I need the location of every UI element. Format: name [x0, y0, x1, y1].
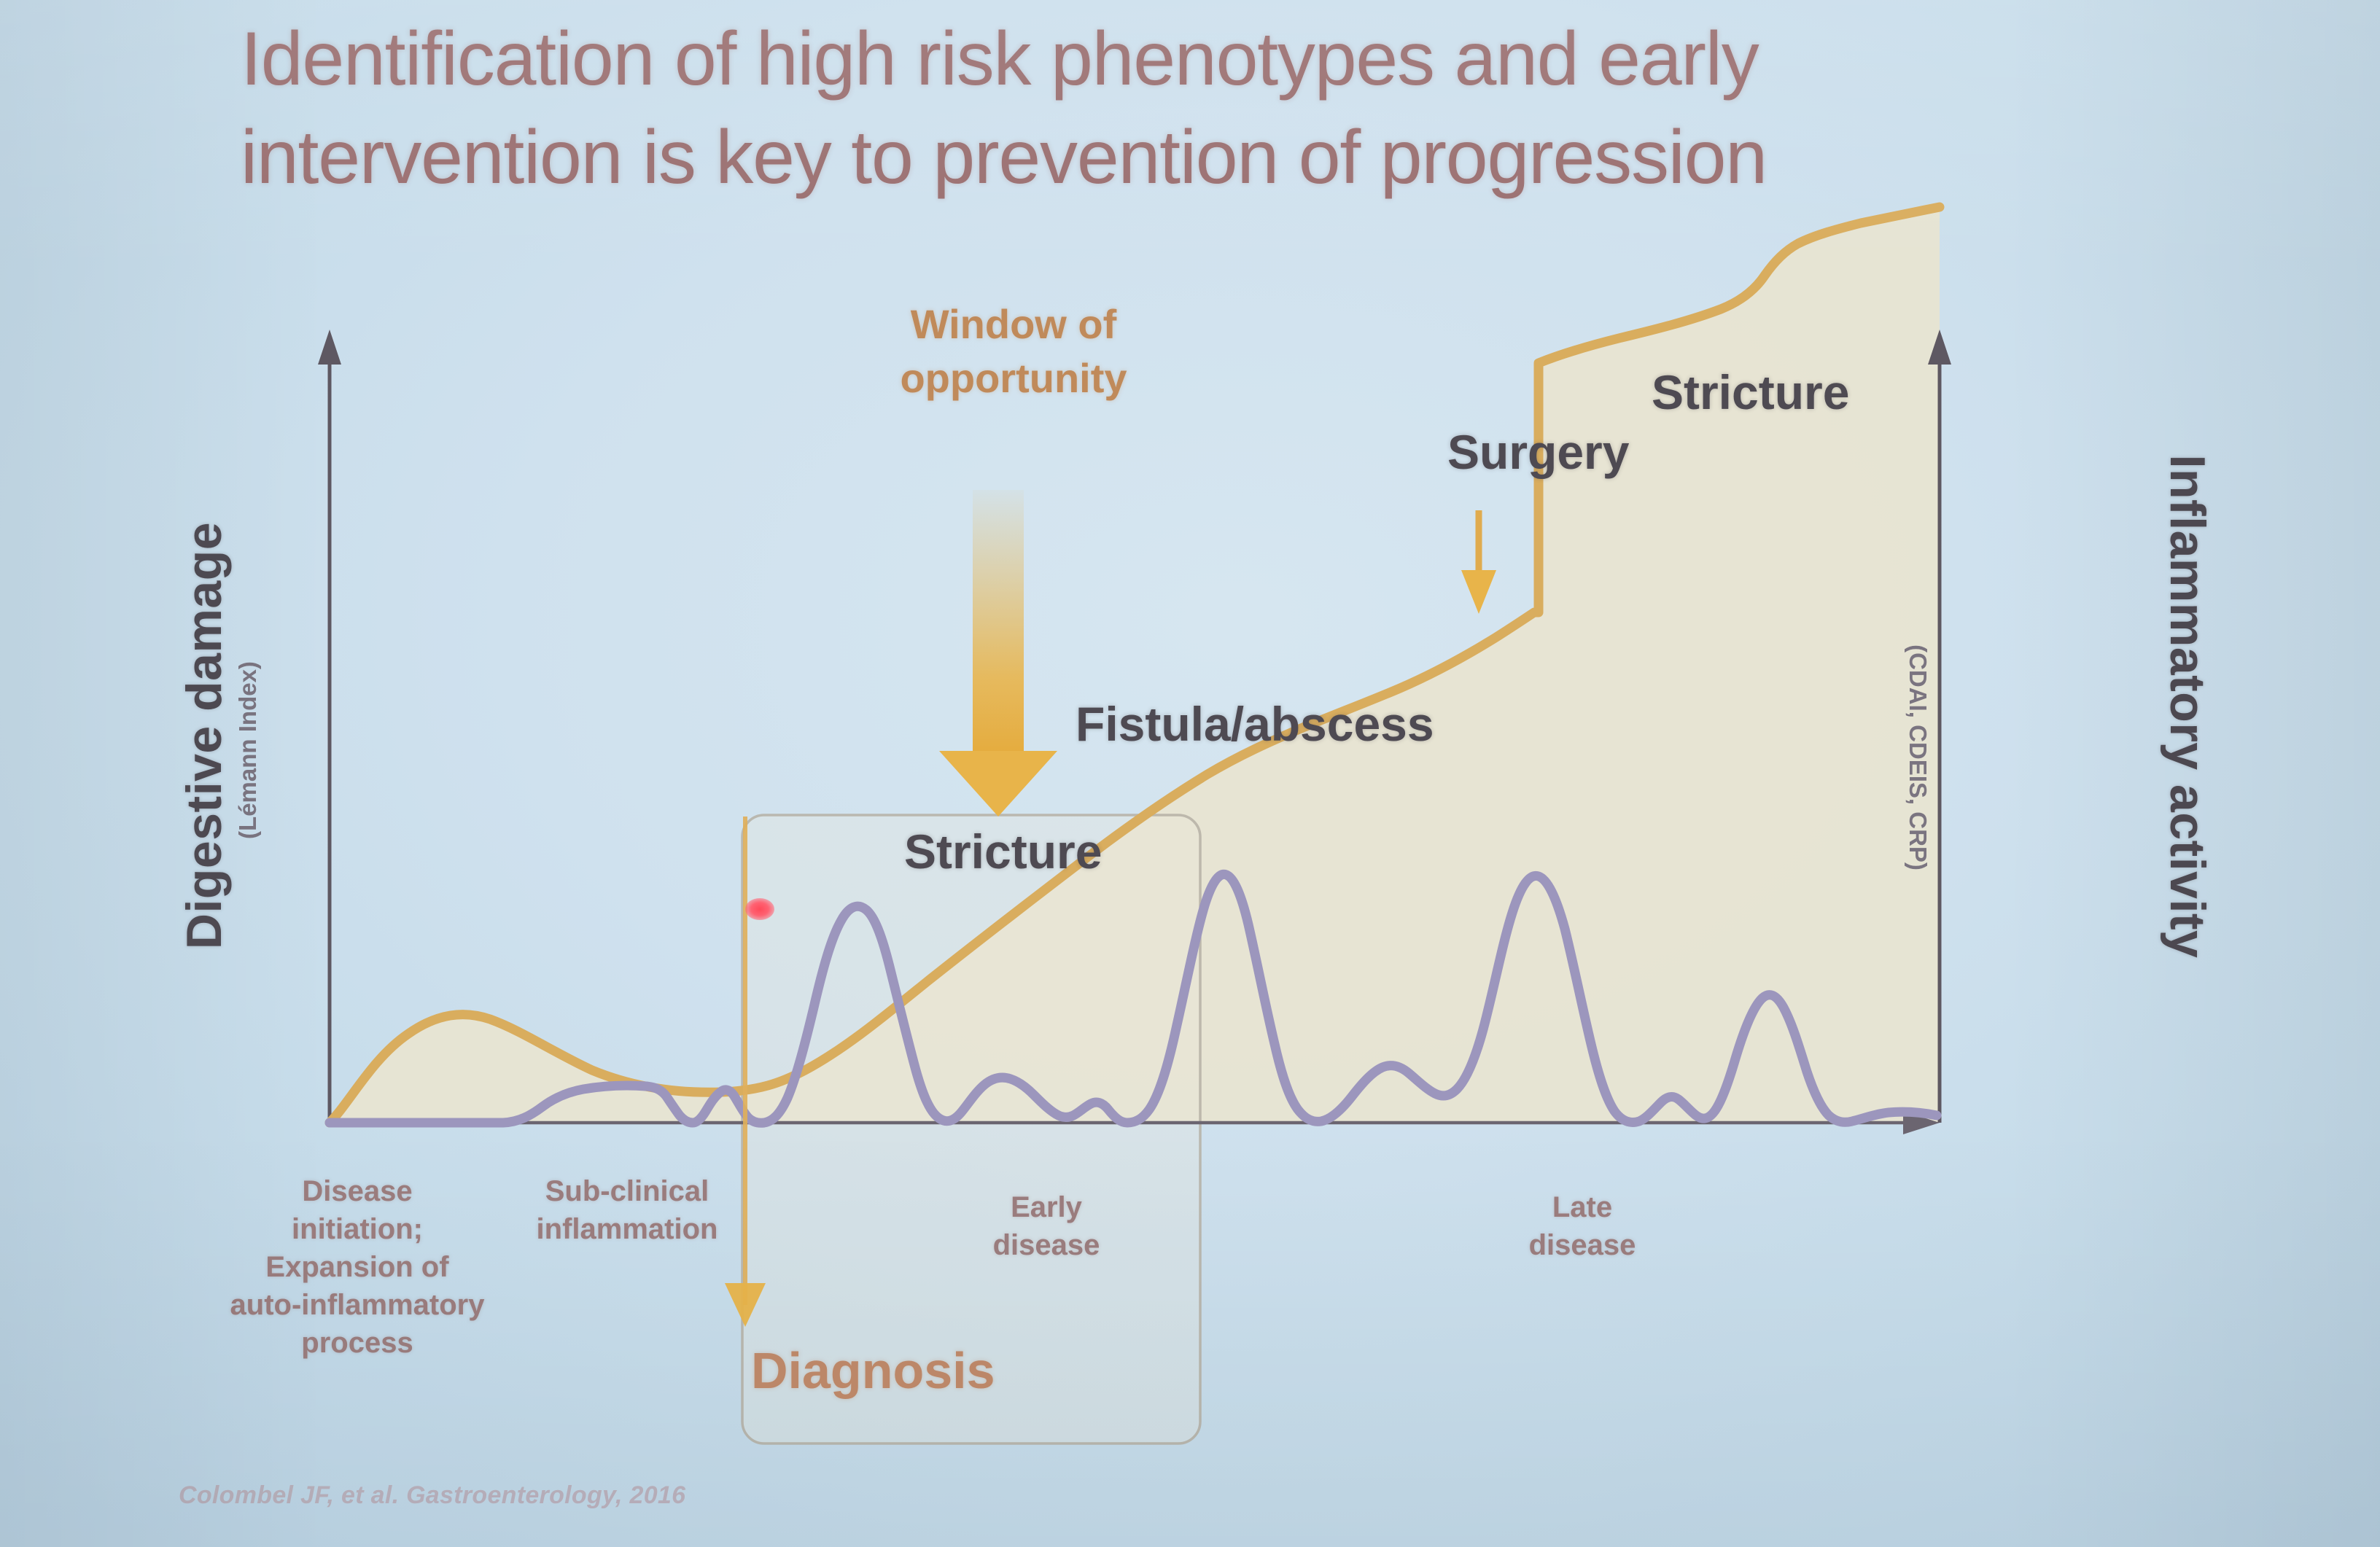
y-axis-left-title: Digestive damage	[176, 480, 233, 991]
annotation-diagnosis: Diagnosis	[751, 1341, 995, 1400]
y-axis-left-arrowhead	[318, 330, 341, 365]
annotation-fistula-abscess: Fistula/abscess	[1076, 696, 1434, 752]
stage-label-disease-initiation: Diseaseinitiation;Expansion ofauto-infla…	[211, 1172, 503, 1362]
y-axis-left-subtitle: (Lémann Index)	[234, 597, 262, 903]
annotation-window-of-opportunity: Window ofopportunity	[824, 297, 1203, 405]
annotation-stricture-late: Stricture	[1652, 365, 1849, 420]
surgery-arrow	[1461, 510, 1496, 614]
stage-label-early-disease: Earlydisease	[915, 1188, 1178, 1264]
stage-label-sub-clinical-inflammation: Sub-clinicalinflammation	[481, 1172, 773, 1248]
laser-pointer-dot	[745, 898, 774, 920]
presentation-slide: Identification of high risk phenotypes a…	[0, 0, 2380, 1547]
window-of-opportunity-arrow	[939, 490, 1057, 817]
citation-reference: Colombel JF, et al. Gastroenterology, 20…	[179, 1481, 685, 1510]
y-axis-right-title: Inflammatory activity	[2159, 320, 2216, 1093]
y-axis-right-subtitle: (CDAI, CDEIS, CRP)	[1904, 604, 1932, 911]
annotation-stricture-early: Stricture	[904, 824, 1102, 879]
stage-label-late-disease: Latedisease	[1451, 1188, 1714, 1264]
annotation-surgery: Surgery	[1447, 424, 1629, 480]
